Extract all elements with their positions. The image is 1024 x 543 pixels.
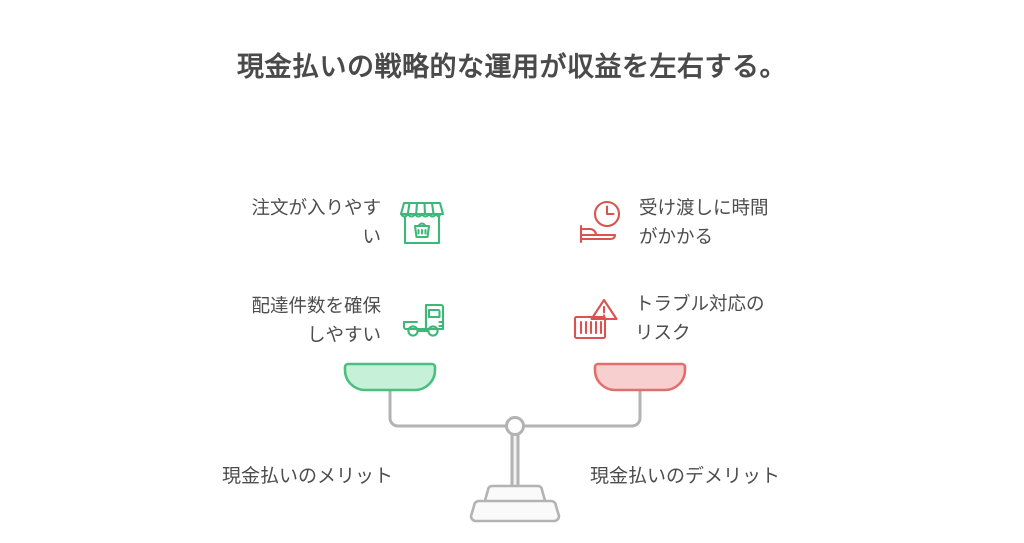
demerit-item-2-label: トラブル対応の リスク [635,290,765,347]
merit-pan [345,364,435,390]
demerit-item-1: 受け渡しに時間 がかかる [572,190,842,256]
merit-item-2-label: 配達件数を確保 しやすい [251,292,381,349]
demerit-pan [595,364,685,390]
delivery-truck-icon [394,293,450,349]
merit-item-1: 注文が入りやす い [200,190,450,256]
demerit-item-2: トラブル対応の リスク [568,286,838,352]
hand-clock-icon [572,195,628,251]
balance-scale [340,360,690,538]
cash-warning-icon [568,291,624,347]
merit-item-2: 配達件数を確保 しやすい [200,288,450,354]
demerit-caption: 現金払いのデメリット [590,461,780,488]
merit-item-1-label: 注文が入りやす い [251,194,381,251]
page-title: 現金払いの戦略的な運用が収益を左右する。 [0,50,1024,85]
slide-canvas: 現金払いの戦略的な運用が収益を左右する。 注文が入りやす い [0,0,1024,538]
storefront-icon [394,195,450,251]
merit-caption: 現金払いのメリット [222,461,393,488]
demerit-item-1-label: 受け渡しに時間 がかかる [639,194,769,251]
